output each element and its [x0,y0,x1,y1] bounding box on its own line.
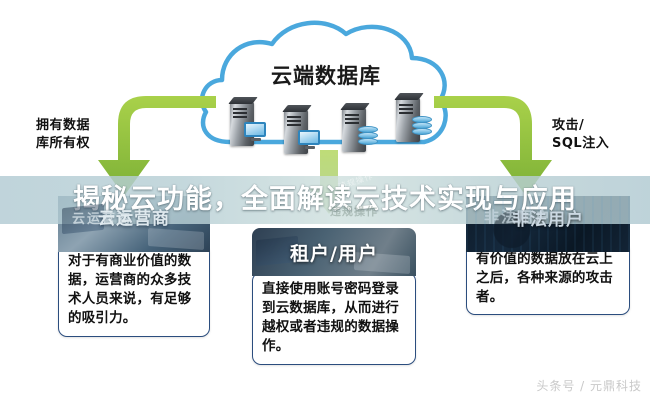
database-cylinder-icon [358,126,378,150]
server-icons-group [212,102,442,164]
right-label-line1: 攻击/ [552,117,609,135]
card-body-text: 有价值的数据放在云上之后，各种来源的攻击者。 [466,242,630,315]
server-rack-icon [396,98,430,144]
left-label: 拥有数据 库所有权 [36,117,90,152]
left-label-line1: 拥有数据 [36,117,90,135]
cloud-group: 云端数据库 [196,14,456,166]
monitor-icon [244,122,268,142]
right-label-line2: SQL注入 [552,135,609,153]
watermark-cloud-operator: 云运营商 [72,208,132,227]
server-rack-icon [284,110,318,156]
watermark-illegal-user: 非法用户 [484,206,552,227]
left-label-line2: 库所有权 [36,135,90,153]
right-label: 攻击/ SQL注入 [552,117,609,152]
server-rack-icon [230,102,264,148]
infographic-canvas: 云端数据库 [0,0,650,400]
card-body-text: 直接使用账号密码登录到云数据库，从而进行越权或者违规的数据操作。 [252,272,416,365]
server-rack-icon [342,108,376,154]
cloud-label: 云端数据库 [196,60,456,90]
monitor-icon [298,130,322,150]
watermark-source: 头条号 / 元鼎科技 [536,377,642,394]
card-body-text: 对于有商业价值的数据，运营商的众多技术人员来说，有足够的吸引力。 [58,244,210,337]
card-photo: 租户/用户 [252,228,416,276]
database-cylinder-icon [412,116,432,140]
watermark-middle: 违规操作 [330,203,378,219]
card-photo-title: 租户/用户 [290,239,378,266]
card-tenant-user: 租户/用户 直接使用账号密码登录到云数据库，从而进行越权或者违规的数据操作。 [252,228,416,365]
